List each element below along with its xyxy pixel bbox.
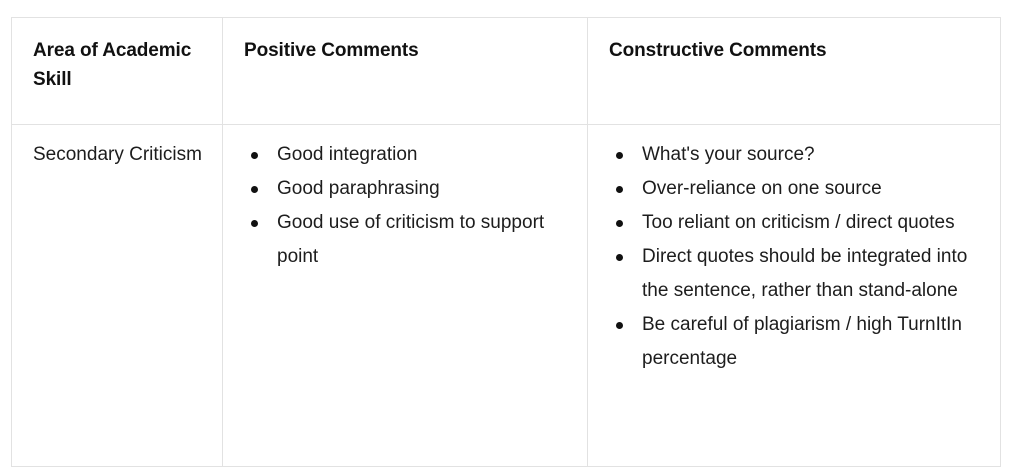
document-page: Area of Academic Skill Positive Comments… [0, 0, 1024, 452]
list-item: What's your source? [609, 138, 980, 172]
list-item: Be careful of plagiarism / high TurnItIn… [609, 308, 980, 376]
column-header-area-of-academic-skill: Area of Academic Skill [12, 18, 223, 125]
academic-feedback-table: Area of Academic Skill Positive Comments… [11, 17, 1001, 467]
list-item: Over-reliance on one source [609, 172, 980, 206]
column-header-positive-comments: Positive Comments [223, 18, 588, 125]
cell-area-of-academic-skill: Secondary Criticism [12, 125, 223, 467]
positive-comments-list: Good integration Good paraphrasing Good … [244, 138, 567, 274]
list-item: Good use of criticism to support point [244, 206, 567, 274]
list-item: Direct quotes should be integrated into … [609, 240, 980, 308]
list-item: Too reliant on criticism / direct quotes [609, 206, 980, 240]
constructive-comments-list: What's your source? Over-reliance on one… [609, 138, 980, 376]
table-row: Secondary Criticism Good integration Goo… [12, 125, 1001, 467]
table-header: Area of Academic Skill Positive Comments… [12, 18, 1001, 125]
header-row: Area of Academic Skill Positive Comments… [12, 18, 1001, 125]
cell-positive-comments: Good integration Good paraphrasing Good … [223, 125, 588, 467]
cell-constructive-comments: What's your source? Over-reliance on one… [588, 125, 1001, 467]
list-item: Good integration [244, 138, 567, 172]
table-body: Secondary Criticism Good integration Goo… [12, 125, 1001, 467]
list-item: Good paraphrasing [244, 172, 567, 206]
column-header-constructive-comments: Constructive Comments [588, 18, 1001, 125]
